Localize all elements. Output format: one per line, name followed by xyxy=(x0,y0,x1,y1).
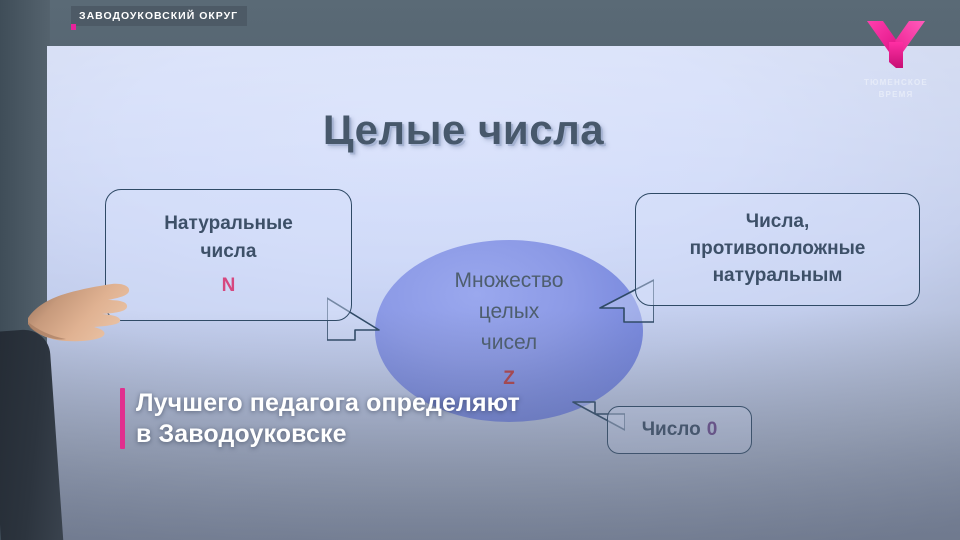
callout-zero-label: Число xyxy=(642,419,701,441)
caption-accent-bar xyxy=(120,388,125,449)
integers-set-line-3: чисел xyxy=(481,331,537,355)
lower-third-caption: Лучшего педагога определяют в Заводоуков… xyxy=(120,388,520,449)
callout-opposite-line-2: противоположные xyxy=(690,236,866,263)
callout-natural-symbol: N xyxy=(222,272,236,301)
callout-natural-line-1: Натуральные xyxy=(164,210,293,239)
callout-natural-numbers: Натуральные числа N xyxy=(105,189,352,321)
integers-set-symbol: Z xyxy=(503,368,515,390)
callout-natural-line-2: числа xyxy=(201,238,257,267)
callout-opposite-numbers: Числа, противоположные натуральным xyxy=(635,193,920,306)
caption-text: Лучшего педагога определяют в Заводоуков… xyxy=(136,388,520,449)
region-badge-accent xyxy=(71,24,76,30)
pointing-hand-icon xyxy=(26,278,134,350)
channel-name-line-1: ТЮМЕНСКОЕ xyxy=(848,77,944,89)
region-badge: ЗАВОДОУКОВСКИЙ ОКРУГ xyxy=(71,6,247,26)
callout-opposite-line-3: натуральным xyxy=(713,263,843,290)
tyumen-time-logo-icon xyxy=(866,18,926,70)
callout-zero: Число 0 xyxy=(607,406,752,454)
slide-title: Целые числа xyxy=(47,106,960,154)
callout-zero-symbol: 0 xyxy=(707,419,718,441)
caption-line-1: Лучшего педагога определяют xyxy=(136,389,520,417)
projected-slide: Целые числа Множество целых чисел Z Нату… xyxy=(47,46,960,540)
callout-opposite-line-1: Числа, xyxy=(746,209,810,236)
integers-set-line-2: целых xyxy=(479,300,540,324)
channel-logo: ТЮМЕНСКОЕ ВРЕМЯ xyxy=(848,18,944,101)
caption-line-2: в Заводоуковске xyxy=(136,419,520,450)
channel-name: ТЮМЕНСКОЕ ВРЕМЯ xyxy=(848,77,944,101)
integers-set-line-1: Множество xyxy=(455,269,564,293)
channel-name-line-2: ВРЕМЯ xyxy=(848,89,944,101)
